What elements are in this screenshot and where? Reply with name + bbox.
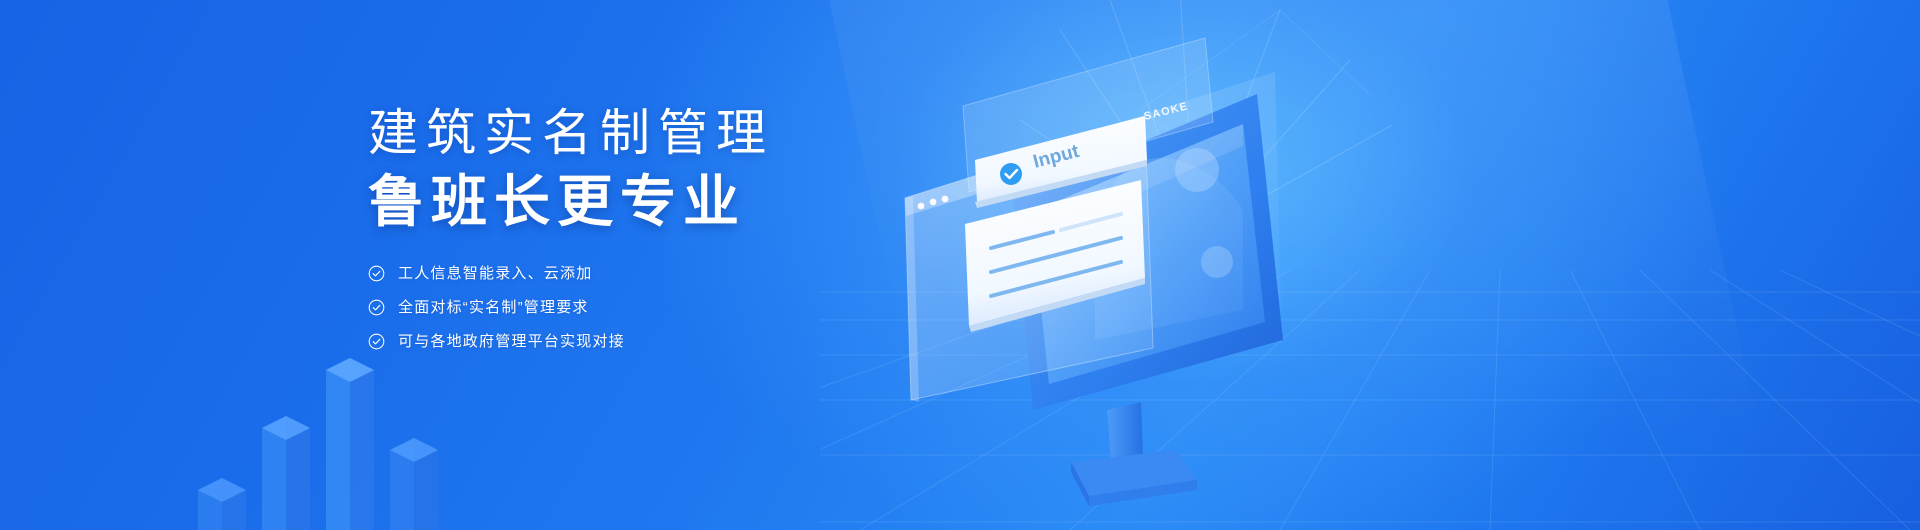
iso-bar-medium: [262, 416, 310, 530]
feature-list: 工人信息智能录入、云添加 全面对标“实名制”管理要求 可与各地政府管理平台实现对…: [368, 265, 798, 350]
iso-bar-tall: [326, 358, 374, 530]
list-item-label: 可与各地政府管理平台实现对接: [398, 334, 625, 349]
promo-banner: SAOKE Input: [0, 0, 1920, 530]
iso-bar-right: [390, 438, 438, 530]
check-circle-icon: [368, 265, 385, 282]
list-item-label: 工人信息智能录入、云添加: [398, 266, 592, 281]
headline-secondary: 鲁班长更专业: [368, 169, 798, 235]
check-circle-icon: [368, 333, 385, 350]
list-item: 全面对标“实名制”管理要求: [368, 299, 798, 316]
list-item: 工人信息智能录入、云添加: [368, 265, 798, 282]
list-item: 可与各地政府管理平台实现对接: [368, 333, 798, 350]
check-circle-filled-icon: [1000, 163, 1022, 185]
check-circle-icon: [368, 299, 385, 316]
monitor-stand: [1071, 402, 1197, 506]
list-item-label: 全面对标“实名制”管理要求: [398, 300, 589, 315]
headline-primary: 建筑实名制管理: [368, 104, 798, 163]
banner-copy: 建筑实名制管理 鲁班长更专业 工人信息智能录入、云添加 全面对标“实名制”管理要…: [368, 104, 798, 350]
monitor-illustration: SAOKE Input: [845, 10, 1465, 530]
iso-bar-small: [198, 478, 246, 530]
